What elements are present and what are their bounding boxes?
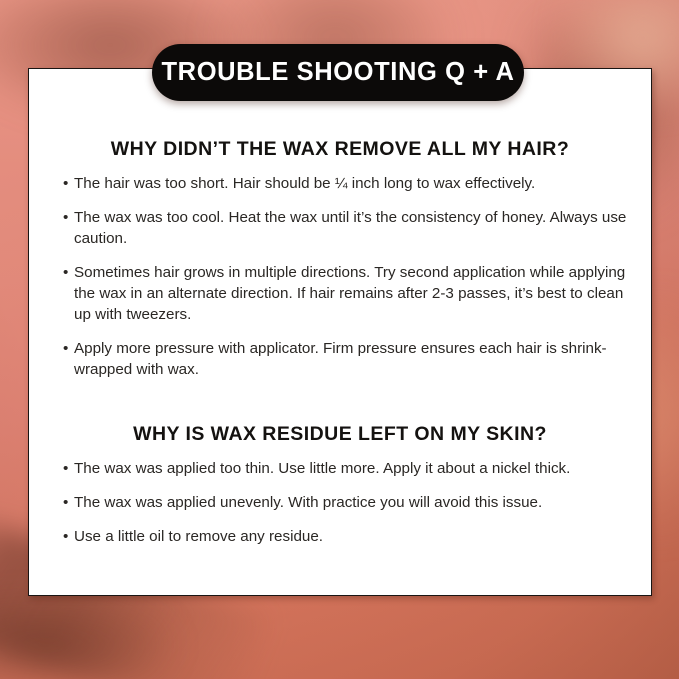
list-item-text: The wax was applied unevenly. With pract… xyxy=(74,494,542,511)
list-item: • Sometimes hair grows in multiple direc… xyxy=(63,263,627,326)
section-heading-hair-removal: WHY DIDN’T THE WAX REMOVE ALL MY HAIR? xyxy=(29,139,651,160)
list-item: • The wax was too cool. Heat the wax unt… xyxy=(63,208,627,250)
list-item: • Use a little oil to remove any residue… xyxy=(63,527,627,548)
title-banner: TROUBLE SHOOTING Q + A xyxy=(152,44,524,101)
section-heading-wax-residue: WHY IS WAX RESIDUE LEFT ON MY SKIN? xyxy=(29,424,651,445)
bullet-dot-icon: • xyxy=(63,459,68,480)
bullet-list-hair-removal: • The hair was too short. Hair should be… xyxy=(63,174,627,381)
card-body: WHY DIDN’T THE WAX REMOVE ALL MY HAIR? •… xyxy=(29,69,651,595)
bullet-list-wax-residue: • The wax was applied too thin. Use litt… xyxy=(63,459,627,548)
list-item: • Apply more pressure with applicator. F… xyxy=(63,339,627,381)
title-text: TROUBLE SHOOTING Q + A xyxy=(162,60,515,86)
list-item-text: Apply more pressure with applicator. Fir… xyxy=(74,340,607,378)
bullet-dot-icon: • xyxy=(63,339,68,360)
list-item: • The wax was applied unevenly. With pra… xyxy=(63,493,627,514)
bullet-dot-icon: • xyxy=(63,263,68,284)
bullet-dot-icon: • xyxy=(63,174,68,195)
list-item-text: Use a little oil to remove any residue. xyxy=(74,528,323,545)
list-item-text: Sometimes hair grows in multiple directi… xyxy=(74,264,625,323)
list-item: • The wax was applied too thin. Use litt… xyxy=(63,459,627,480)
list-item-text: The hair was too short. Hair should be ¼… xyxy=(74,175,535,192)
content-card: WHY DIDN’T THE WAX REMOVE ALL MY HAIR? •… xyxy=(28,68,652,596)
list-item-text: The wax was too cool. Heat the wax until… xyxy=(74,209,626,247)
bullet-dot-icon: • xyxy=(63,208,68,229)
list-item: • The hair was too short. Hair should be… xyxy=(63,174,627,195)
bullet-dot-icon: • xyxy=(63,527,68,548)
page-root: WHY DIDN’T THE WAX REMOVE ALL MY HAIR? •… xyxy=(0,0,679,679)
list-item-text: The wax was applied too thin. Use little… xyxy=(74,460,570,477)
bullet-dot-icon: • xyxy=(63,493,68,514)
